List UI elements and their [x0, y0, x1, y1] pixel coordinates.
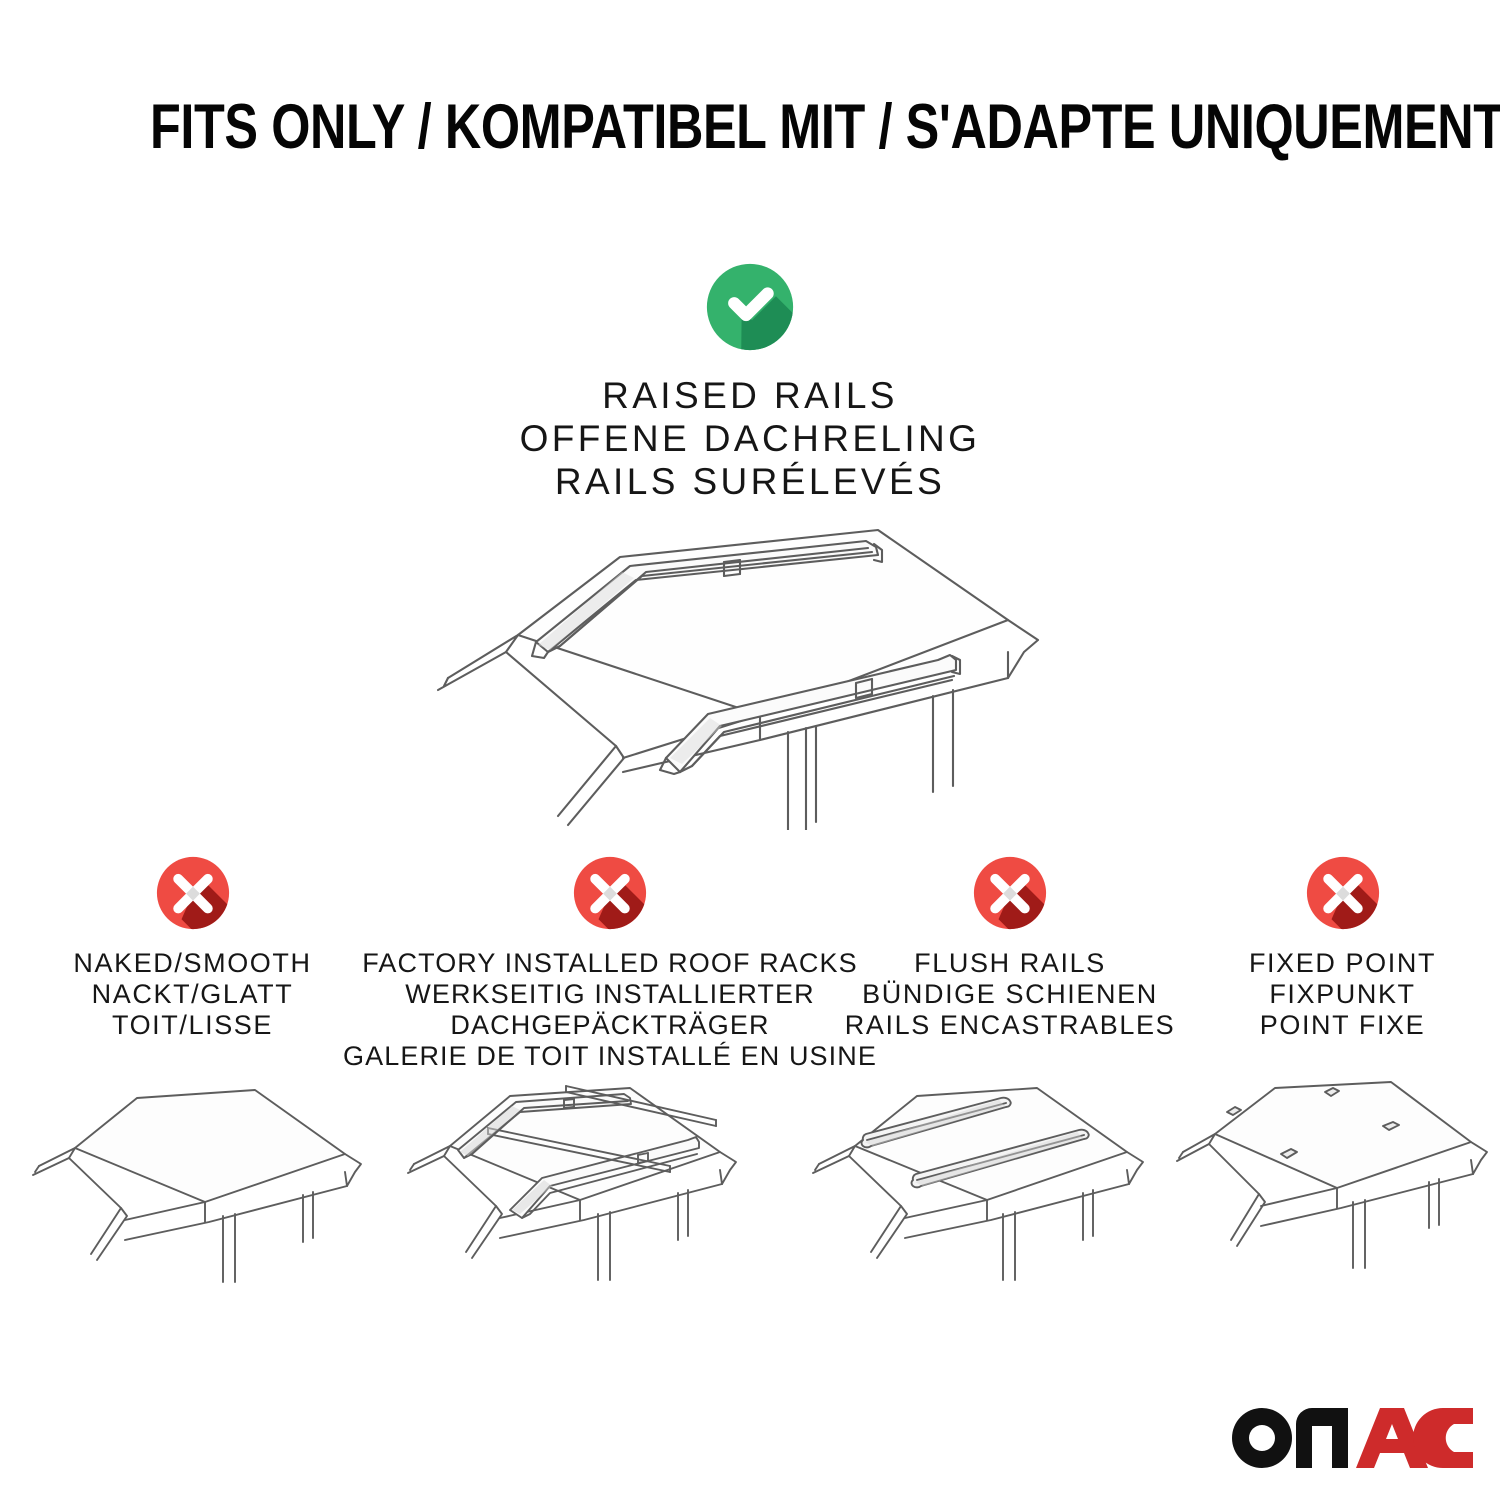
compatible-labels: RAISED RAILS OFFENE DACHRELING RAILS SUR… [0, 374, 1500, 503]
incompatible-label-fr: TOIT/LISSE [73, 1010, 311, 1041]
compatible-section: RAISED RAILS OFFENE DACHRELING RAILS SUR… [0, 258, 1500, 503]
incompatible-column-flush-rails: FLUSH RAILS BÜNDIGE SCHIENEN RAILS ENCAS… [835, 852, 1185, 1041]
compatible-label-de: OFFENE DACHRELING [0, 417, 1500, 460]
incompatible-sections: NAKED/SMOOTH NACKT/GLATT TOIT/LISSE FACT… [0, 852, 1500, 1072]
logo-letter-o [1232, 1408, 1292, 1468]
incompatible-illustrations [0, 1062, 1500, 1312]
incompatible-label-de: NACKT/GLATT [73, 979, 311, 1010]
incompatible-label-de: BÜNDIGE SCHIENEN [845, 979, 1175, 1010]
omac-logo [1228, 1398, 1473, 1470]
compatible-label-fr: RAILS SURÉLEVÉS [0, 460, 1500, 503]
cross-circle-icon [569, 852, 651, 934]
incompatible-column-factory-racks: FACTORY INSTALLED ROOF RACKS WERKSEITIG … [385, 852, 835, 1072]
incompatible-label-en: FACTORY INSTALLED ROOF RACKS [343, 948, 877, 979]
incompatible-column-fixed-point: FIXED POINT FIXPUNKT POINT FIXE [1185, 852, 1500, 1041]
incompatible-label-de-2: DACHGEPÄCKTRÄGER [343, 1010, 877, 1041]
check-circle-icon [701, 258, 799, 356]
car-roof-flush-rails-illustration [805, 1062, 1185, 1312]
car-roof-fixed-point-illustration [1175, 1062, 1500, 1312]
incompatible-column-naked-smooth: NAKED/SMOOTH NACKT/GLATT TOIT/LISSE [0, 852, 385, 1041]
incompatible-label-de-1: WERKSEITIG INSTALLIERTER [343, 979, 877, 1010]
incompatible-label-en: NAKED/SMOOTH [73, 948, 311, 979]
page-header: FITS ONLY / KOMPATIBEL MIT / S'ADAPTE UN… [0, 96, 1500, 159]
logo-letter-c [1413, 1408, 1473, 1468]
compatible-label-en: RAISED RAILS [0, 374, 1500, 417]
incompatible-labels: FIXED POINT FIXPUNKT POINT FIXE [1249, 948, 1436, 1041]
incompatible-label-fr: POINT FIXE [1249, 1010, 1436, 1041]
car-roof-naked-smooth-illustration [25, 1062, 405, 1312]
incompatible-label-de: FIXPUNKT [1249, 979, 1436, 1010]
cross-circle-icon [152, 852, 234, 934]
incompatible-label-fr: RAILS ENCASTRABLES [845, 1010, 1175, 1041]
cross-circle-icon [1302, 852, 1384, 934]
car-roof-raised-rails-illustration [408, 500, 1108, 830]
cross-circle-icon [969, 852, 1051, 934]
car-roof-factory-racks-illustration [398, 1062, 778, 1312]
page-title: FITS ONLY / KOMPATIBEL MIT / S'ADAPTE UN… [150, 96, 1350, 159]
incompatible-label-en: FIXED POINT [1249, 948, 1436, 979]
incompatible-label-en: FLUSH RAILS [845, 948, 1175, 979]
incompatible-labels: FLUSH RAILS BÜNDIGE SCHIENEN RAILS ENCAS… [845, 948, 1175, 1041]
logo-letter-m [1296, 1408, 1348, 1468]
incompatible-labels: FACTORY INSTALLED ROOF RACKS WERKSEITIG … [343, 948, 877, 1072]
incompatible-labels: NAKED/SMOOTH NACKT/GLATT TOIT/LISSE [73, 948, 311, 1041]
